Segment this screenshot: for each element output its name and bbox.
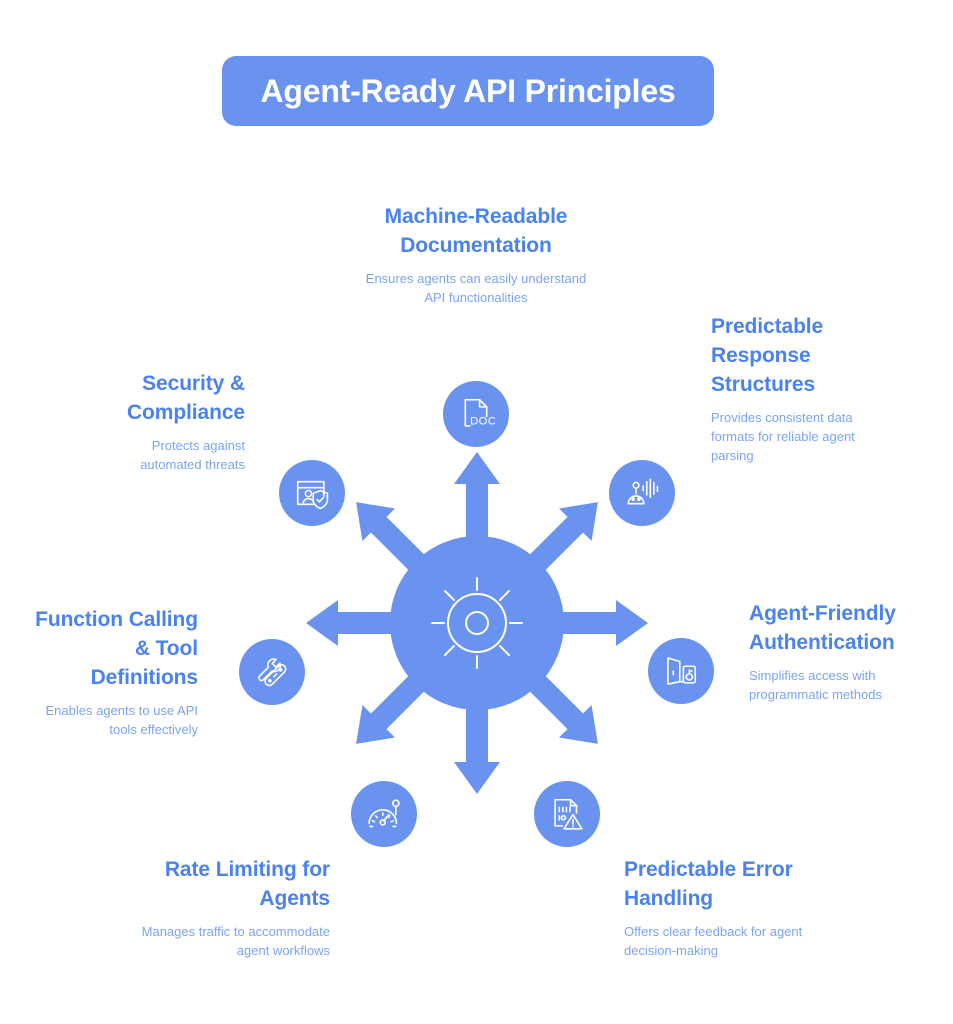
speedometer-gauge-icon	[365, 795, 403, 833]
principle-description: Ensures agents can easily understand API…	[356, 270, 596, 308]
principle-description: Manages traffic to accommodate agent wor…	[128, 923, 330, 961]
title-banner: Agent-Ready API Principles	[222, 56, 714, 126]
principle-description: Enables agents to use API tools effectiv…	[22, 702, 198, 740]
icon-node-predictable-error-handling[interactable]	[534, 781, 600, 847]
radiating-sun-hub-icon	[432, 578, 522, 668]
principle-machine-readable-documentation: Machine-Readable Documentation Ensures a…	[356, 203, 596, 308]
principle-predictable-error-handling: Predictable Error Handling Offers clear …	[624, 856, 829, 961]
principle-description: Provides consistent data formats for rel…	[711, 409, 891, 466]
door-keycard-icon	[662, 652, 700, 690]
principle-description: Offers clear feedback for agent decision…	[624, 923, 829, 961]
principle-description: Protects against automated threats	[104, 437, 245, 475]
arrow-down-left	[340, 655, 445, 760]
principle-rate-limiting-for-agents: Rate Limiting for Agents Manages traffic…	[128, 856, 330, 961]
wrench-screwdriver-icon	[253, 653, 291, 691]
arrow-up-right	[509, 486, 614, 591]
arrow-right	[545, 600, 648, 646]
icon-node-rate-limiting-for-agents[interactable]	[351, 781, 417, 847]
page-title: Agent-Ready API Principles	[260, 73, 675, 110]
hub-circle	[390, 536, 564, 710]
principle-predictable-response-structures: Predictable Response Structures Provides…	[711, 313, 891, 465]
arrow-up	[454, 452, 500, 555]
principle-title: Machine-Readable Documentation	[356, 203, 596, 261]
icon-node-machine-readable-documentation[interactable]: DOC	[443, 381, 509, 447]
principle-title: Function Calling & Tool Definitions	[22, 606, 198, 693]
principle-agent-friendly-authentication: Agent-Friendly Authentication Simplifies…	[749, 600, 945, 705]
icon-node-predictable-response-structures[interactable]	[609, 460, 675, 526]
icon-node-agent-friendly-authentication[interactable]	[648, 638, 714, 704]
arrow-down	[454, 691, 500, 794]
icon-node-security-compliance[interactable]	[279, 460, 345, 526]
binary-file-warning-icon	[548, 795, 586, 833]
icon-node-function-calling-tool-definitions[interactable]	[239, 639, 305, 705]
principle-title: Rate Limiting for Agents	[128, 856, 330, 914]
principle-title: Security & Compliance	[104, 370, 245, 428]
principle-function-calling-tool-definitions: Function Calling & Tool Definitions Enab…	[22, 606, 198, 740]
principle-title: Predictable Error Handling	[624, 856, 829, 914]
principle-title: Agent-Friendly Authentication	[749, 600, 945, 658]
principle-security-compliance: Security & Compliance Protects against a…	[104, 370, 245, 475]
robot-waveform-icon	[623, 474, 661, 512]
svg-text:DOC: DOC	[470, 416, 495, 428]
infographic-canvas: Agent-Ready API Principles	[0, 0, 953, 1024]
principle-title: Predictable Response Structures	[711, 313, 891, 400]
document-doc-icon: DOC	[457, 395, 495, 433]
arrow-up-left	[340, 486, 445, 591]
browser-user-shield-icon	[293, 474, 331, 512]
arrow-left	[306, 600, 409, 646]
arrow-down-right	[509, 655, 614, 760]
principle-description: Simplifies access with programmatic meth…	[749, 667, 945, 705]
